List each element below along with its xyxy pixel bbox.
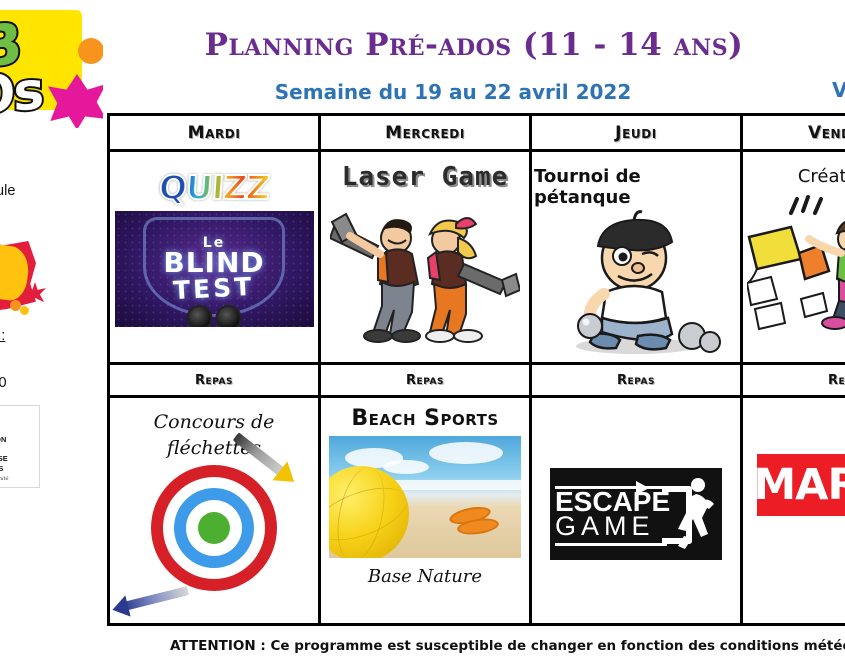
- petanque-title: Tournoi de pétanque: [534, 166, 738, 208]
- laser-game-title: Laser Game: [342, 162, 509, 192]
- running-man-icon: [676, 476, 716, 552]
- escape-game-logo: ESCAPE GAME: [550, 468, 722, 560]
- cell-mercredi-morning[interactable]: Laser Game: [320, 151, 531, 364]
- sidebar-hours-block: e l'accueil : 0 à 9h30 00 à 18h30: [0, 328, 103, 391]
- accueil-heading: ueil :: [0, 136, 99, 152]
- day-header-jeudi[interactable]: Jeudi: [531, 115, 742, 151]
- repas-jeudi: Repas: [531, 364, 742, 397]
- repas-label: Repas: [406, 373, 444, 388]
- hours-heading: e l'accueil :: [0, 328, 99, 344]
- accueil-line-2: ral De Gaule: [0, 183, 99, 199]
- marvel-label: MARVEL: [753, 460, 845, 510]
- cell-mardi-morning[interactable]: QUIZZ Le BLIND TEST: [109, 151, 320, 364]
- blind-test-banner: Le BLIND TEST: [115, 211, 314, 327]
- cell-mardi-afternoon[interactable]: Concours de fléchettes: [109, 397, 320, 625]
- arrow-right-icon: [636, 481, 649, 495]
- quizz-logo: QUIZZ: [158, 168, 271, 207]
- day-header-mardi[interactable]: Mardi: [109, 115, 320, 151]
- repas-mercredi: Repas: [320, 364, 531, 397]
- sidebar: UB DOs ueil : nes ral De Gaule OSC e à c…: [0, 0, 103, 670]
- ministry-motto: Liberté Égalité Fraternité: [0, 476, 34, 483]
- cell-vendredi-morning[interactable]: Création d': [742, 151, 845, 364]
- repas-label: Repas: [617, 373, 655, 388]
- page-subtitle: Semaine du 19 au 22 avril 2022: [103, 80, 803, 104]
- ministry-logo: MINISTÈRE DE L'ÉDUCATION NATIONALE, DE L…: [0, 405, 40, 488]
- ministry-line-4: DE LA JEUNESSE: [0, 454, 34, 463]
- hours-line-2: 00 à 18h30: [0, 375, 99, 391]
- morning-row: QUIZZ Le BLIND TEST: [109, 151, 845, 364]
- dart-blue: [123, 586, 189, 611]
- marvel-illustration: MARVEL POPCORN: [747, 454, 845, 594]
- day-label: Vendredi: [808, 123, 845, 143]
- cell-jeudi-morning[interactable]: Tournoi de pétanque: [531, 151, 742, 364]
- day-header-vendredi[interactable]: Vendredi: [742, 115, 845, 151]
- anim-ball-yellow: [20, 306, 29, 315]
- logo-orange-dot: [78, 38, 103, 64]
- marvel-logo: MARVEL: [757, 454, 845, 516]
- petanque-illustration: [546, 210, 726, 358]
- day-label: Mercredi: [385, 123, 465, 143]
- ministry-line-5: ET DES SPORTS: [0, 464, 34, 473]
- beach-caption: Base Nature: [368, 566, 482, 587]
- hours-line-1: 0 à 9h30: [0, 356, 99, 372]
- blind-test-test: TEST: [163, 274, 265, 303]
- kite-illustration: [747, 191, 845, 341]
- cell-mercredi-afternoon[interactable]: Beach Sports Base Nature: [320, 397, 531, 625]
- day-header-mercredi[interactable]: Mercredi: [320, 115, 531, 151]
- cell-jeudi-afternoon[interactable]: ESCAPE GAME: [531, 397, 742, 625]
- creation-title: Création d': [798, 166, 845, 187]
- ministry-line-1: MINISTÈRE: [0, 426, 34, 435]
- repas-label: Repas: [195, 373, 233, 388]
- club-ados-logo: UB DOs: [0, 0, 103, 128]
- ministry-line-2: DE L'ÉDUCATION: [0, 435, 34, 444]
- darts-title-line-1: Concours de: [154, 410, 275, 436]
- cell-vendredi-afternoon[interactable]: MARVEL POPCORN: [742, 397, 845, 625]
- planning-table: Mardi Mercredi Jeudi Vendredi QUIZZ: [107, 113, 845, 626]
- dartboard-illustration: [151, 465, 277, 591]
- escape-line-2: GAME: [555, 514, 670, 539]
- animation-logo: e à ction: [0, 234, 48, 320]
- repas-label: Repas: [828, 373, 845, 388]
- laser-game-illustration: [330, 194, 520, 344]
- speaker-icon: [187, 305, 242, 327]
- ministry-line-3: NATIONALE,: [0, 445, 34, 454]
- table-header-row: Mardi Mercredi Jeudi Vendredi: [109, 115, 845, 151]
- page-title: Planning Pré-ados (11 - 14 ans): [103, 27, 845, 63]
- afternoon-row: Concours de fléchettes Beach Sports: [109, 397, 845, 625]
- accueil-line-1: nes: [0, 164, 99, 180]
- flipflops-icon: [449, 508, 501, 532]
- attention-note: ATTENTION : Ce programme est susceptible…: [170, 638, 845, 654]
- beach-sports-title: Beach Sports: [351, 406, 498, 431]
- beach-photo: [329, 436, 521, 558]
- repas-row: Repas Repas Repas Repas: [109, 364, 845, 397]
- repas-mardi: Repas: [109, 364, 320, 397]
- day-label: Jeudi: [615, 123, 657, 143]
- sidebar-info-block: ueil : nes ral De Gaule OSC: [0, 136, 103, 218]
- page-subtitle-cut: V: [832, 78, 845, 102]
- repas-vendredi: Repas: [742, 364, 845, 397]
- logo-word-ados: DOs: [0, 61, 42, 128]
- accueil-line-3: OSC: [0, 202, 99, 218]
- planning-page: UB DOs ueil : nes ral De Gaule OSC e à c…: [0, 0, 845, 670]
- day-label: Mardi: [188, 123, 241, 143]
